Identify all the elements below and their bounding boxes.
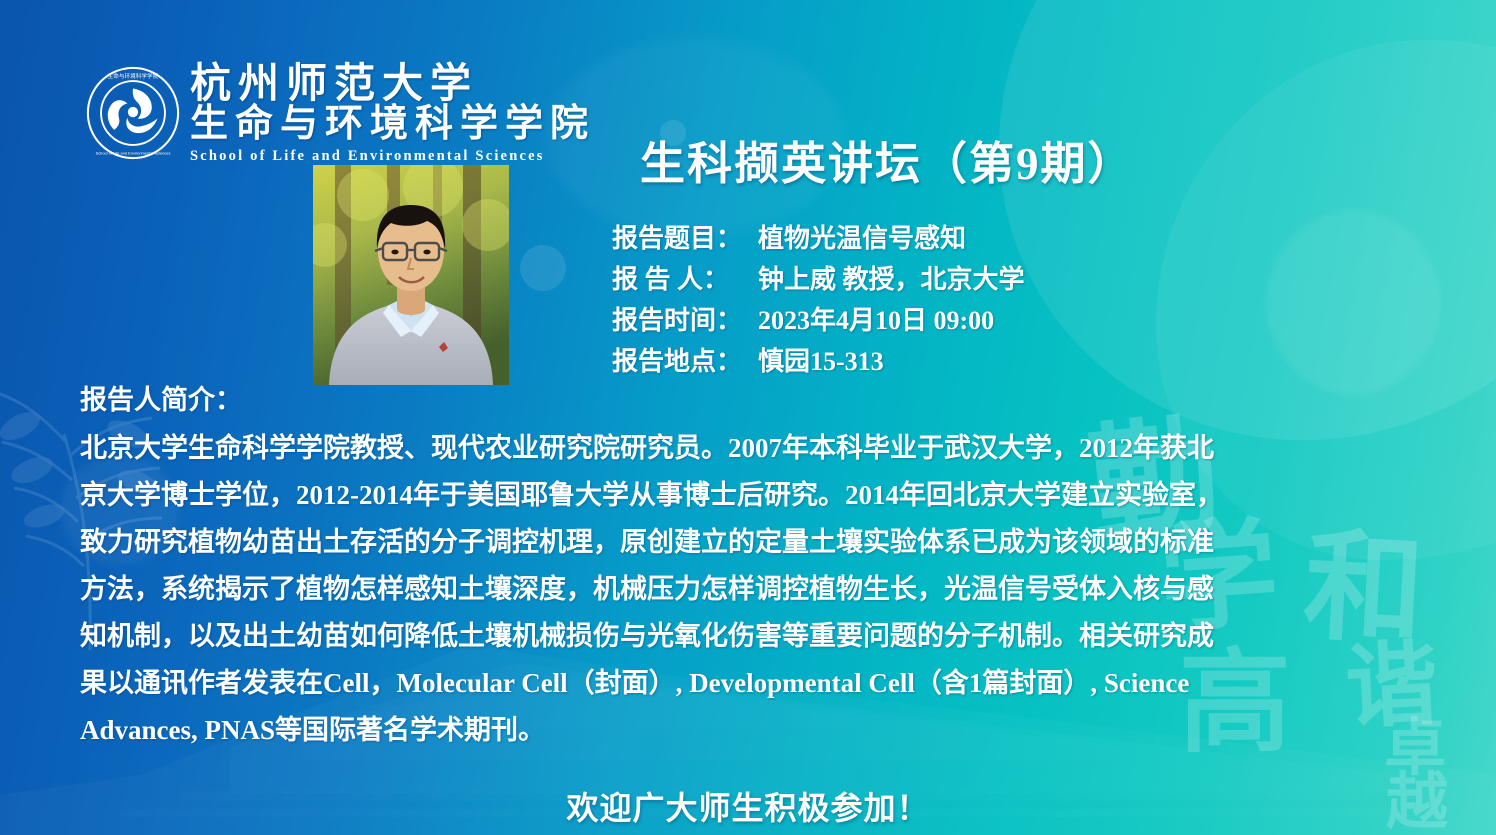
svg-text:生命与环境科学学院: 生命与环境科学学院 xyxy=(108,72,159,80)
speaker-photo-illustration xyxy=(313,165,509,385)
logo-university-name: 杭州师范大学 xyxy=(190,62,595,105)
speaker-portrait xyxy=(313,165,509,385)
detail-label-topic: 报告题目： xyxy=(612,218,758,255)
bubble-decoration-small-center xyxy=(520,245,566,291)
biography-line: 北京大学生命科学学院教授、现代农业研究院研究员。2007年本科毕业于武汉大学，2… xyxy=(80,425,1410,472)
biography-body: 北京大学生命科学学院教授、现代农业研究院研究员。2007年本科毕业于武汉大学，2… xyxy=(80,425,1410,754)
detail-label-time: 报告时间： xyxy=(612,300,758,337)
event-poster: 勤 学 和 高 谐 卓 越 生命与环境科学学院 School of Life a… xyxy=(0,0,1496,835)
detail-row-venue: 报告地点： 慎园15-313 xyxy=(612,341,1025,382)
biography-line: 知机制，以及出土幼苗如何降低土壤机械损伤与光氧化伤害等重要问题的分子机制。相关研… xyxy=(80,613,1410,660)
detail-label-speaker: 报 告 人： xyxy=(612,259,758,296)
biography-line: 方法，系统揭示了植物怎样感知土壤深度，机械压力怎样调控植物生长，光温信号受体入核… xyxy=(80,566,1410,613)
detail-row-speaker: 报 告 人： 钟上威 教授，北京大学 xyxy=(612,259,1025,300)
event-details: 报告题目： 植物光温信号感知 报 告 人： 钟上威 教授，北京大学 报告时间： … xyxy=(612,218,1025,382)
bubble-decoration-right xyxy=(1266,210,1441,395)
welcome-note: 欢迎广大师生积极参加！ xyxy=(0,783,1496,829)
biography-line: 果以通讯作者发表在Cell，Molecular Cell（封面）, Develo… xyxy=(80,660,1410,707)
svg-text:School of Life and Environment: School of Life and Environmental Science… xyxy=(96,150,171,155)
poster-title: 生科撷英讲坛（第9期） xyxy=(640,127,1135,192)
detail-value-venue: 慎园15-313 xyxy=(758,341,884,378)
biography-line: Advances, PNAS等国际著名学术期刊。 xyxy=(80,707,1410,754)
detail-value-speaker: 钟上威 教授，北京大学 xyxy=(758,259,1025,296)
biography-line: 致力研究植物幼苗出土存活的分子调控机理，原创建立的定量土壤实验体系已成为该领域的… xyxy=(80,519,1410,566)
biography-heading: 报告人简介： xyxy=(80,378,242,417)
school-logo: 生命与环境科学学院 School of Life and Environment… xyxy=(86,62,595,165)
logo-college-name: 生命与环境科学学院 xyxy=(190,105,595,145)
detail-value-topic: 植物光温信号感知 xyxy=(758,218,966,255)
detail-label-venue: 报告地点： xyxy=(612,341,758,378)
school-emblem-icon: 生命与环境科学学院 School of Life and Environment… xyxy=(86,66,180,160)
logo-english-name: School of Life and Environmental Science… xyxy=(190,148,595,165)
detail-row-topic: 报告题目： 植物光温信号感知 xyxy=(612,218,1025,259)
detail-row-time: 报告时间： 2023年4月10日 09:00 xyxy=(612,300,1025,341)
detail-value-time: 2023年4月10日 09:00 xyxy=(758,300,994,337)
biography-line: 京大学博士学位，2012-2014年于美国耶鲁大学从事博士后研究。2014年回北… xyxy=(80,472,1410,519)
